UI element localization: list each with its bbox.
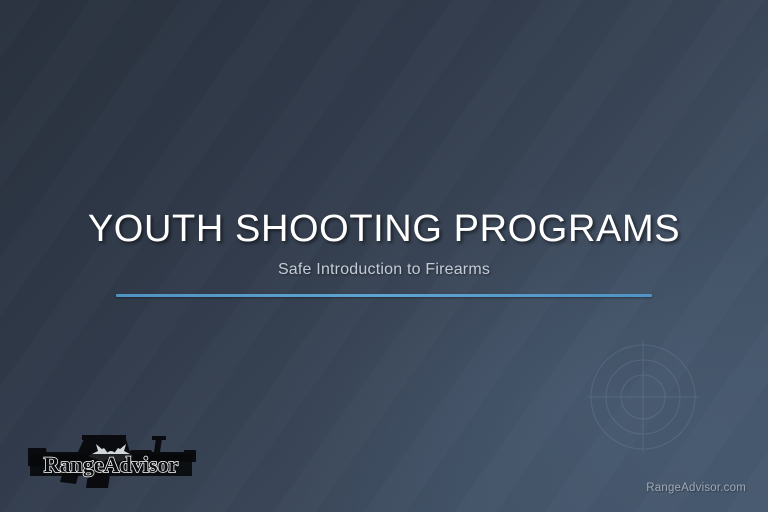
brand-logo: RangeAdvisor — [26, 426, 202, 492]
logo-wordmark: RangeAdvisor — [44, 452, 179, 477]
page-subtitle: Safe Introduction to Firearms — [0, 260, 768, 280]
page-title: YOUTH SHOOTING PROGRAMS — [0, 206, 768, 252]
title-block: YOUTH SHOOTING PROGRAMS Safe Introductio… — [0, 206, 768, 297]
title-accent-rule — [116, 294, 652, 297]
presentation-slide: YOUTH SHOOTING PROGRAMS Safe Introductio… — [0, 0, 768, 512]
footer-website-url: RangeAdvisor.com — [646, 482, 746, 494]
